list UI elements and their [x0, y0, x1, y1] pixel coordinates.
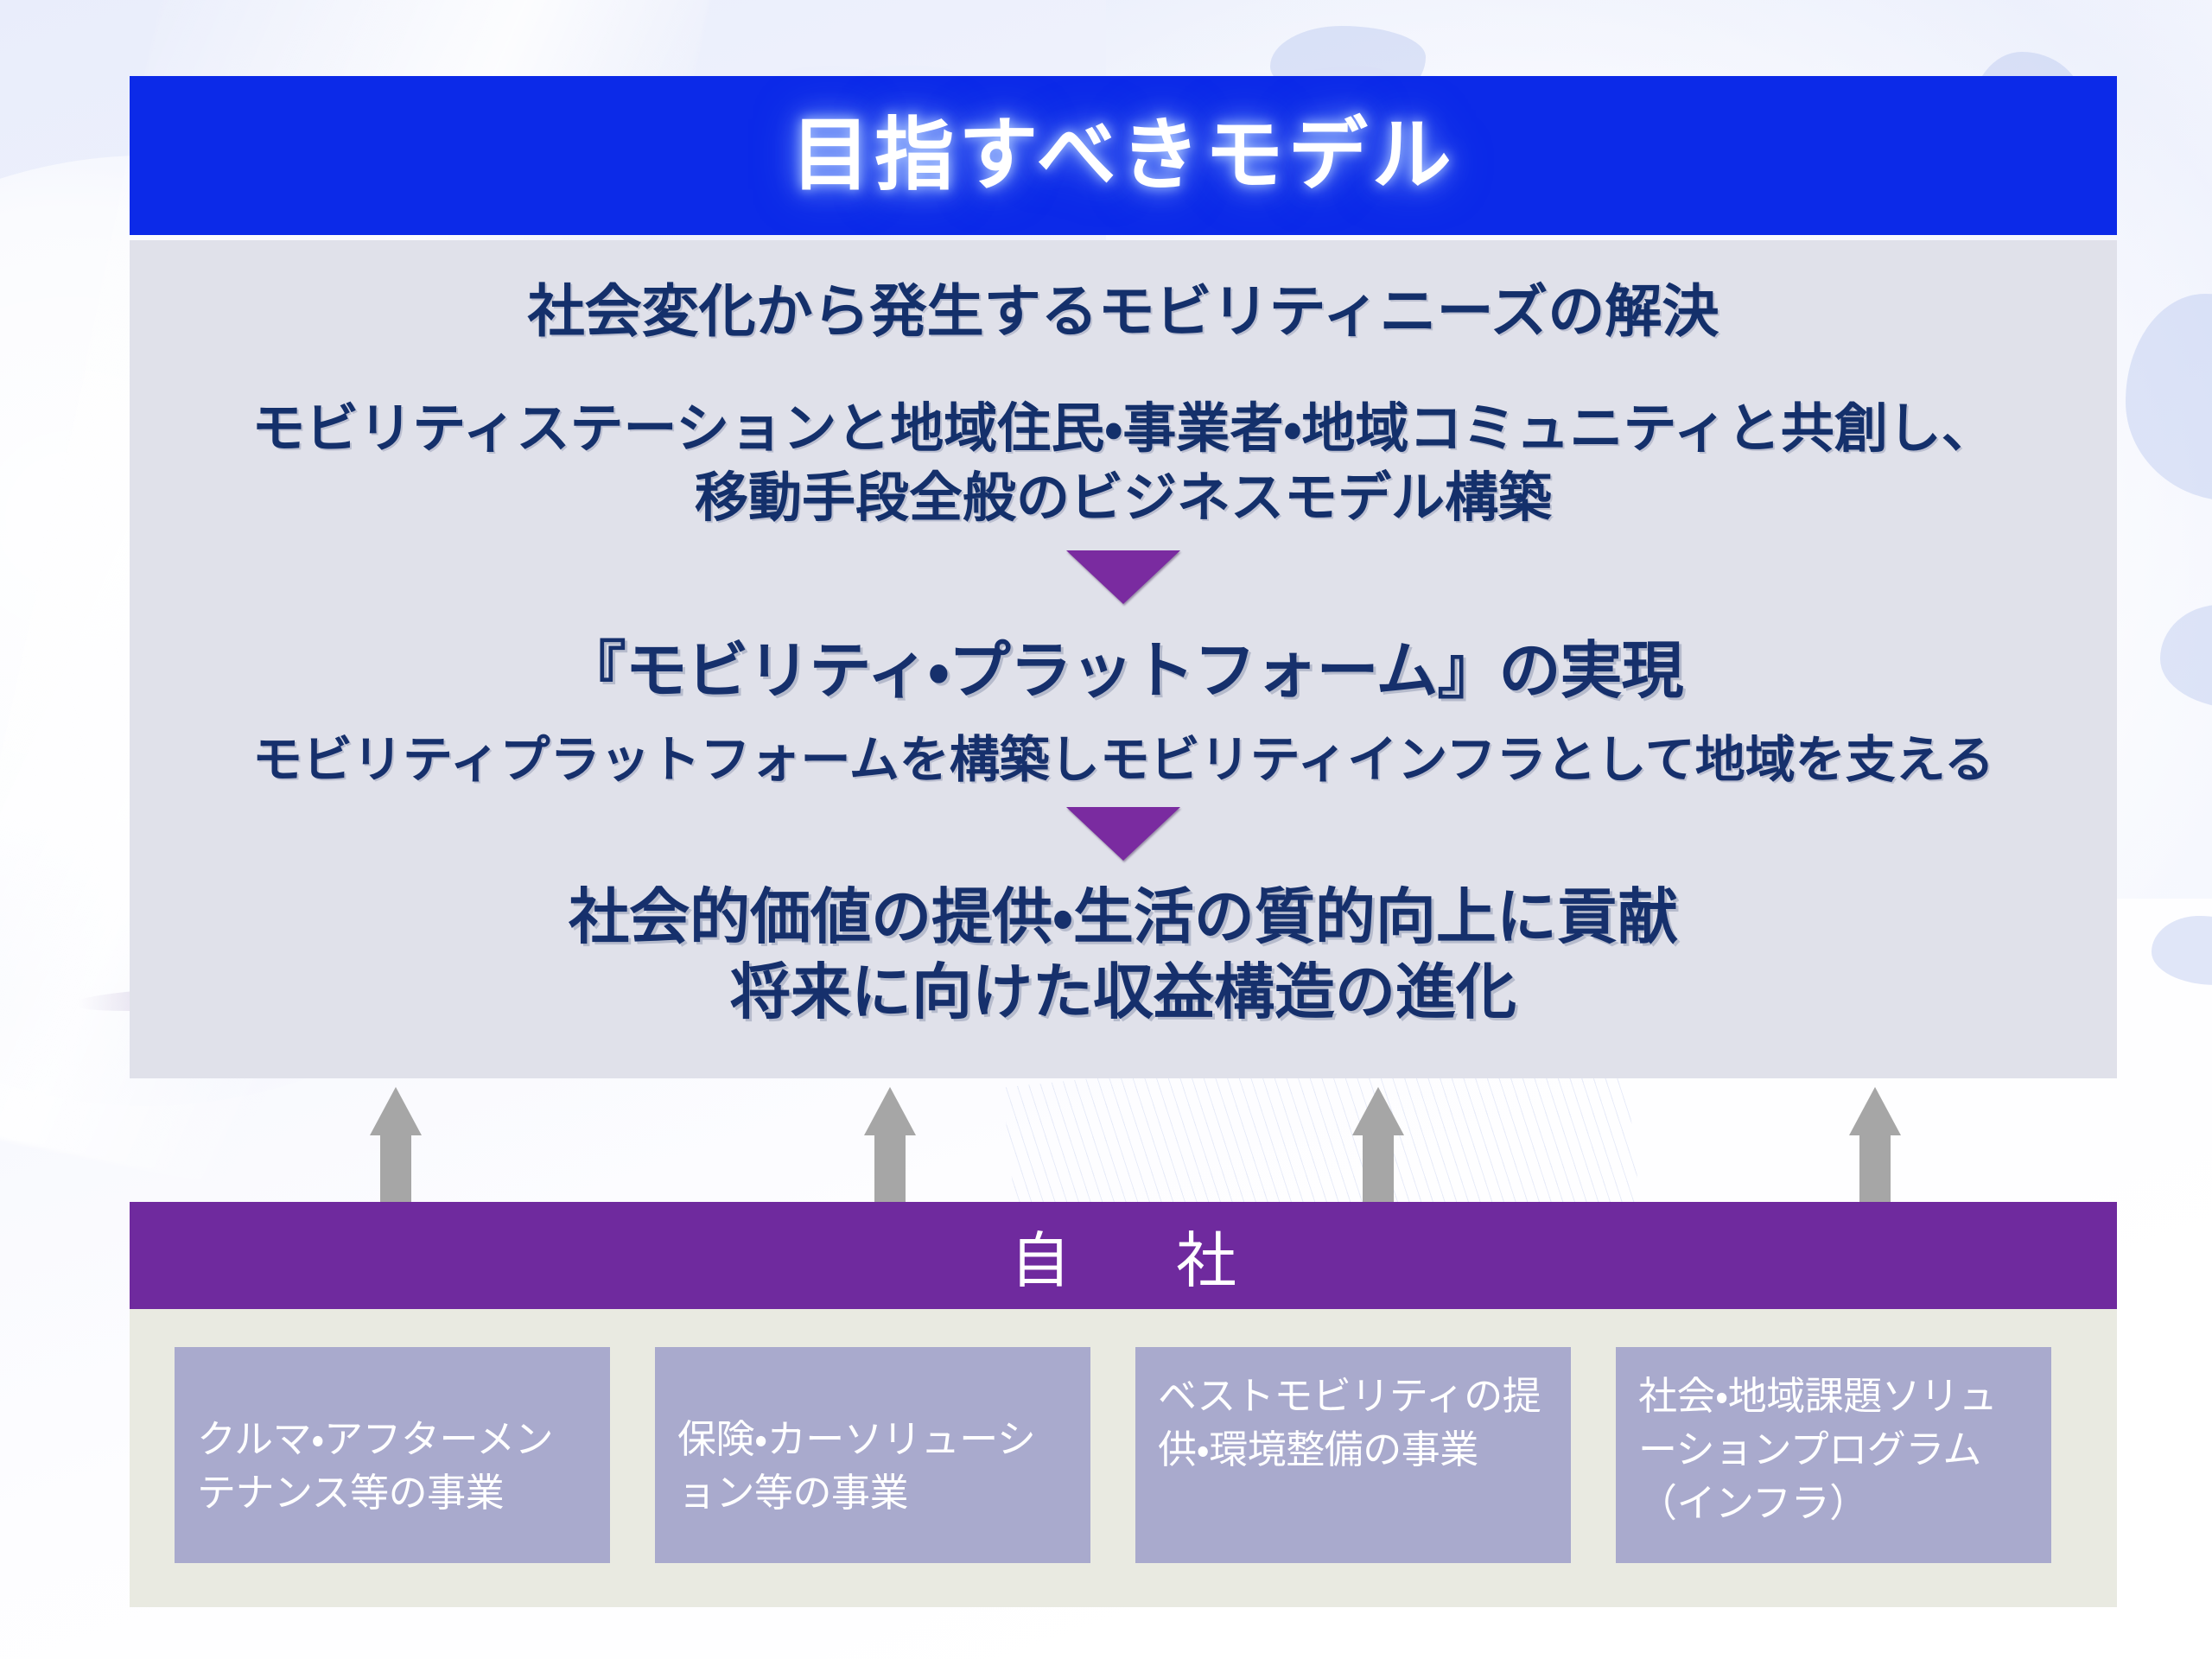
platform-description: モビリティプラットフォームを構築しモビリティインフラとして地域を支える: [252, 719, 1994, 791]
outcome-statement: 社会的価値の提供・生活の質的向上に貢献 将来に向けた収益構造の進化: [569, 880, 1678, 1030]
arrow-head: [864, 1087, 916, 1135]
mobility-needs-statement: 社会変化から発生するモビリティニーズの解決: [528, 276, 1719, 349]
background-map-speck: [2126, 294, 2212, 501]
outcome-line-2: 将来に向けた収益構造の進化: [569, 955, 1678, 1030]
down-triangle-icon: [1066, 550, 1180, 604]
arrow-shaft: [1859, 1132, 1891, 1205]
business-box[interactable]: 社会・地域課題ソリューションプログラム（インフラ）: [1616, 1347, 2051, 1563]
arrow-head: [1849, 1087, 1901, 1135]
company-bar: 自 社: [130, 1202, 2117, 1309]
outcome-line-1: 社会的価値の提供・生活の質的向上に貢献: [569, 880, 1678, 955]
co-creation-statement: モビリティステーションと地域住民・事業者・地域コミュニティと共創し、 移動手段全…: [251, 396, 1994, 533]
business-box[interactable]: 保険・カーソリューション等の事業: [655, 1347, 1090, 1563]
company-label: 自 社: [988, 1212, 1259, 1300]
co-creation-line-2: 移動手段全般のビジネスモデル構築: [251, 465, 1994, 533]
down-triangle-icon: [1066, 807, 1180, 861]
arrow-head: [1352, 1087, 1404, 1135]
business-box[interactable]: ベストモビリティの提供・環境整備の事業: [1135, 1347, 1571, 1563]
arrow-up-icon: [370, 1087, 408, 1203]
arrow-shaft: [874, 1132, 906, 1205]
arrow-up-icon: [1849, 1087, 1887, 1203]
page-title: 目指すべきモデル: [791, 116, 1456, 195]
business-box[interactable]: クルマ・アフターメンテナンス等の事業: [175, 1347, 610, 1563]
arrow-up-icon: [864, 1087, 902, 1203]
arrow-shaft: [1363, 1132, 1394, 1205]
platform-realization-heading: 『モビリティ・プラットフォーム』の実現: [563, 620, 1682, 710]
model-overview-panel: 社会変化から発生するモビリティニーズの解決 モビリティステーションと地域住民・事…: [130, 240, 2117, 1078]
background-map-speck: [2160, 605, 2212, 709]
slide-canvas: 目指すべきモデル 社会変化から発生するモビリティニーズの解決 モビリティステーシ…: [0, 0, 2212, 1659]
arrow-head: [370, 1087, 422, 1135]
arrow-up-icon: [1352, 1087, 1390, 1203]
business-areas-panel: クルマ・アフターメンテナンス等の事業 保険・カーソリューション等の事業 ベストモ…: [130, 1309, 2117, 1607]
arrow-shaft: [380, 1132, 411, 1205]
co-creation-line-1: モビリティステーションと地域住民・事業者・地域コミュニティと共創し、: [251, 396, 1994, 464]
background-map-speck: [2152, 916, 2212, 985]
slide-title-bar: 目指すべきモデル: [130, 76, 2117, 235]
